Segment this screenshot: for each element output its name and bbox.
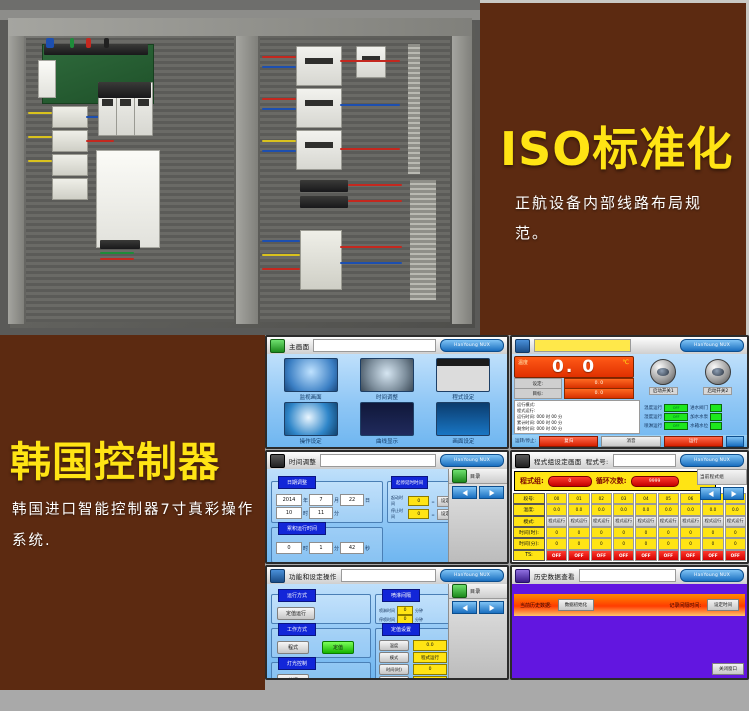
list-icon — [515, 454, 530, 468]
wire — [86, 140, 114, 142]
menu-label: 程式设定 — [452, 393, 474, 401]
top-row: ISO标准化 正航设备内部线路布局规范。 — [0, 0, 749, 335]
mode-value[interactable]: 程式运行 — [413, 652, 447, 663]
wire — [262, 56, 296, 58]
side-panel: 目录 — [448, 469, 507, 562]
hmi-screen-main-menu: 主画面 HanYoung NUX 监视画面 时间调整 — [265, 335, 509, 449]
temperature-label: 温度 — [518, 359, 528, 366]
delay-start-value[interactable]: 0 — [408, 496, 429, 506]
cell[interactable]: 0 — [613, 538, 634, 549]
electrical-control-cabinet-photo — [0, 0, 480, 335]
hour-field[interactable]: 10 — [276, 507, 302, 519]
cell[interactable]: 程式运行 — [546, 516, 567, 527]
wire — [340, 246, 402, 248]
module-connector — [100, 240, 140, 249]
brand-badge: HanYoung NUX — [440, 569, 504, 582]
gauges-icon — [284, 358, 338, 392]
cell[interactable]: OFF — [546, 550, 567, 561]
wire — [340, 148, 400, 150]
history-toolbar: 当前历史数据: 数据初始化 记录间隔时间: 设定时间 — [514, 594, 745, 616]
cell[interactable]: 0 — [546, 538, 567, 549]
light-group: 灯光控制 关闭 — [271, 662, 371, 680]
terminal-block — [52, 106, 88, 128]
spray-off-unit: 分钟 — [415, 617, 423, 623]
runtime-min-unit: 分 — [334, 545, 339, 552]
next-screen-button[interactable] — [726, 436, 744, 447]
work-mode-header: 工作方式 — [278, 623, 316, 636]
start-switch-group: 启动开关1 启动开关2 — [636, 356, 745, 398]
monitor-mid: 运行模式: 程式运行: 运行时间: 000 时 00 分 累计时间: 000 时… — [512, 400, 747, 435]
program-banner: 程式组: 0 循环次数: 9999 — [514, 471, 716, 491]
next-arrow-icon[interactable] — [479, 601, 504, 614]
delay-group: 起停延时时间 起动时间 0 = 设定 停止时间 0 = 设定 — [387, 481, 455, 523]
next-arrow-icon[interactable] — [723, 487, 744, 500]
cell: 05 — [658, 493, 679, 504]
cell[interactable]: OFF — [613, 550, 634, 561]
status-lamp-2 — [710, 413, 722, 421]
side-panel-header: 目录 — [449, 584, 507, 599]
start-switch-2[interactable]: 启动开关2 — [703, 359, 732, 395]
hmi-screen-monitor: HanYoung NUX 温度 ℃ 0. 0 — [510, 335, 749, 449]
cabinet-post-right — [452, 24, 472, 324]
mute-button[interactable]: 消音 — [601, 436, 660, 447]
program-number-field[interactable] — [613, 454, 677, 467]
cell[interactable]: 程式运行 — [591, 516, 612, 527]
program-group-label: 程式组: — [520, 476, 544, 486]
title-field — [320, 454, 436, 467]
spray-on-value[interactable]: 0 — [397, 606, 413, 615]
temperature-group: 温度 ℃ 0. 0 设定: 0. 0 目标: 0 — [514, 356, 634, 398]
nav-arrows — [449, 484, 507, 501]
panel-korean-controller: 韩国控制器 韩国进口智能控制器7寸真彩操作系统. — [0, 335, 265, 690]
minute-button[interactable]: 时间(分) — [379, 676, 409, 680]
nav-arrows — [449, 599, 507, 616]
row-header: 段号: — [513, 493, 545, 504]
cell[interactable]: 0.0 — [591, 504, 612, 515]
iso-subtitle: 正航设备内部线路布局规范。 — [515, 188, 730, 248]
cell: 01 — [568, 493, 589, 504]
day-field[interactable]: 22 — [340, 494, 364, 506]
setpoint-row: 设定: 0. 0 — [514, 379, 634, 388]
cabinet-rail-top — [8, 18, 472, 36]
year-unit: 年 — [303, 497, 308, 504]
wire — [100, 252, 134, 254]
cell: 03 — [613, 493, 634, 504]
screen-subtitle: 程式号: — [586, 456, 609, 466]
status-row: 喷淋运行 OFF 水箱水位 — [644, 422, 743, 430]
brand-badge: HanYoung NUX — [680, 339, 744, 352]
minute-field[interactable]: 11 — [309, 507, 333, 519]
runtime-hour-field: 0 — [276, 542, 302, 554]
cell[interactable]: 程式运行 — [635, 516, 656, 527]
cell[interactable]: 程式运行 — [658, 516, 679, 527]
menu-label: 监视画面 — [300, 393, 322, 401]
screen-body: 日期调整 2014 年 7 月 22 日 10 时 11 — [267, 469, 507, 562]
status-label-2: 进水阀门 — [690, 405, 708, 411]
function-layout: 运行方式 定值运行 工作方式 程式 定值 灯光控制 关闭 — [267, 584, 507, 678]
wire — [104, 38, 109, 48]
cell[interactable]: 0 — [591, 527, 612, 538]
wire — [70, 38, 74, 48]
target-row: 目标: 0. 0 — [514, 389, 634, 398]
set-interval-button[interactable]: 设定时间 — [707, 599, 739, 611]
spray-on-label: 喷淋时间 — [379, 608, 395, 614]
history-left-label: 当前历史数据: — [520, 602, 552, 609]
run-button[interactable]: 运行 — [664, 436, 723, 447]
row-header: TS: — [513, 550, 545, 561]
hour-value[interactable]: 0 — [413, 664, 447, 675]
hmi-screenshot-grid: 主画面 HanYoung NUX 监视画面 时间调整 — [265, 335, 749, 690]
title-field-yellow[interactable] — [534, 339, 631, 352]
title-field — [341, 569, 436, 582]
reset-button[interactable]: 复归 — [539, 436, 598, 447]
temperature-display: 温度 ℃ 0. 0 — [514, 356, 634, 378]
din-rail-terminals — [410, 180, 436, 300]
run-mode-button[interactable]: 定值运行 — [277, 607, 315, 620]
terminal-block — [52, 130, 88, 152]
date-group: 日期调整 2014 年 7 月 22 日 10 时 11 — [271, 481, 383, 523]
month-unit: 月 — [334, 497, 339, 504]
menu-item-operation[interactable]: 操作设定 — [273, 402, 348, 445]
temperature-value: 0. 0 — [552, 357, 596, 377]
hmi-screen-time-adjust: 时间调整 HanYoung NUX 日期调整 2014 年 7 月 22 — [265, 450, 509, 564]
cell[interactable]: 0 — [568, 527, 589, 538]
light-header: 灯光控制 — [278, 657, 316, 670]
work-mode-program-button[interactable]: 程式 — [277, 641, 309, 654]
screen-title: 程式组设定画面 — [534, 456, 582, 466]
brand-badge: HanYoung NUX — [680, 569, 744, 582]
screen-body: 监视画面 时间调整 程式设定 操作设定 — [267, 354, 507, 447]
panel-iso-standard: ISO标准化 正航设备内部线路布局规范。 — [480, 0, 749, 335]
menu-icon — [270, 339, 285, 353]
screen-body: 运行方式 定值运行 工作方式 程式 定值 灯光控制 关闭 — [267, 584, 507, 678]
circuit-breaker — [296, 88, 342, 128]
cell[interactable]: OFF — [658, 550, 679, 561]
status-row: 温度运行 OFF 进水阀门 — [644, 404, 743, 412]
side-panel-header: 目录 — [449, 469, 507, 484]
clock-icon — [270, 454, 285, 468]
titlebar: 功能和设定操作 HanYoung NUX — [267, 567, 507, 585]
delay-stop-label: 停止时间 — [391, 508, 406, 520]
cell[interactable]: 0.0 — [568, 504, 589, 515]
titlebar: 程式组设定画面 程式号: HanYoung NUX — [512, 452, 747, 470]
circuit-breaker — [296, 46, 342, 86]
status-row: 湿度运行 OFF 加水水泵 — [644, 413, 743, 421]
cycle-count-value[interactable]: 9999 — [631, 476, 679, 487]
wire — [46, 38, 54, 48]
controller-headline: 韩国控制器 — [10, 428, 220, 488]
wire — [262, 254, 300, 256]
cell[interactable]: 0.0 — [658, 504, 679, 515]
side-panel-label: 当前程式组 — [700, 474, 724, 480]
hour-unit: 时 — [303, 510, 308, 517]
status-label-2: 加水水泵 — [690, 414, 708, 420]
titlebar: 时间调整 HanYoung NUX — [267, 452, 507, 470]
status-lamp-2 — [710, 404, 722, 412]
terminal-block — [52, 154, 88, 176]
runtime-group: 累积运行时间 0 时 1 分 42 秒 — [271, 527, 383, 563]
compass-clock-icon — [360, 358, 414, 392]
run-info-box: 运行模式: 程式运行: 运行时间: 000 时 00 分 累计时间: 000 时… — [514, 400, 640, 434]
monitor-layout: 温度 ℃ 0. 0 设定: 0. 0 目标: 0 — [512, 354, 747, 447]
side-panel-label: 目录 — [470, 473, 481, 480]
delay-eq: = — [431, 499, 434, 504]
cell[interactable]: 0 — [568, 538, 589, 549]
wire — [340, 262, 402, 264]
title-field — [313, 339, 436, 352]
next-arrow-icon[interactable] — [479, 486, 504, 499]
hmi-screen-program-setting: 程式组设定画面 程式号: HanYoung NUX 程式组: 0 循环次数: 9… — [510, 450, 749, 564]
controller-module — [96, 150, 160, 248]
cell[interactable]: 0.0 — [635, 504, 656, 515]
temp-value[interactable]: 0.0 — [413, 640, 447, 651]
minute-value[interactable]: 0 — [413, 676, 447, 680]
menu-label: 曲线显示 — [376, 437, 398, 445]
row-header: 模式: — [513, 516, 545, 527]
screen-title: 功能和设定操作 — [289, 571, 337, 581]
temperature-unit: ℃ — [622, 359, 629, 366]
relay-module — [38, 60, 56, 98]
cell: 04 — [635, 493, 656, 504]
status-lamp: OFF — [664, 404, 688, 412]
fixed-setting-header: 定值设置 — [382, 623, 420, 636]
info-line: 剩余时间: 000 时 00 分 — [517, 426, 637, 432]
screen-body: 当前历史数据: 数据初始化 记录间隔时间: 设定时间 关闭窗口 — [512, 584, 747, 678]
menu-item-trend[interactable]: 曲线显示 — [349, 402, 424, 445]
runtime-hour-unit: 时 — [303, 545, 308, 552]
cell[interactable]: 0 — [658, 538, 679, 549]
wire — [262, 240, 300, 242]
wire — [28, 136, 52, 138]
spray-off-label: 停喷时间 — [379, 617, 395, 623]
circuit-breaker — [356, 46, 386, 78]
fixed-setting-group: 定值设置 温度 0.0 模式 程式运行 时间(时) 0 — [375, 628, 455, 680]
wire — [262, 150, 296, 152]
cell[interactable]: OFF — [568, 550, 589, 561]
runtime-sec-field: 42 — [340, 542, 364, 554]
titlebar: HanYoung NUX — [512, 337, 747, 355]
menu-item-program[interactable]: 程式设定 — [426, 358, 501, 401]
start-switch-1[interactable]: 启动开关1 — [649, 359, 678, 395]
knob-caption: 启动开关2 — [703, 387, 732, 395]
prev-arrow-icon[interactable] — [700, 487, 721, 500]
screen-title: 主画面 — [289, 341, 309, 351]
fuse-holder — [300, 180, 348, 192]
screen-body: 温度 ℃ 0. 0 设定: 0. 0 目标: 0 — [512, 354, 747, 447]
year-field[interactable]: 2014 — [276, 494, 302, 506]
list-gear-icon — [436, 358, 490, 392]
runtime-sec-unit: 秒 — [365, 545, 370, 552]
fuse-holder — [300, 196, 348, 208]
knob-caption: 启动开关1 — [649, 387, 678, 395]
status-lamp: OFF — [664, 422, 688, 430]
hmi-screen-function-setting: 功能和设定操作 HanYoung NUX 运行方式 定值运行 工作方式 — [265, 565, 509, 680]
spray-group: 喷淋间隔 喷淋时间 0 分钟 停喷时间 0 分钟 — [375, 594, 455, 624]
wire — [262, 66, 296, 68]
cell[interactable]: 0 — [658, 527, 679, 538]
terminal-block — [52, 178, 88, 200]
knob-icon[interactable] — [650, 359, 676, 385]
titlebar: 主画面 HanYoung NUX — [267, 337, 507, 355]
wire — [28, 112, 52, 114]
status-label: 喷淋运行 — [644, 423, 662, 429]
delay-start-label: 起动时间 — [391, 495, 406, 507]
target-label: 目标: — [514, 388, 562, 399]
menu-label: 时间调整 — [376, 393, 398, 401]
contactor — [300, 230, 342, 290]
screen-settings-icon — [436, 402, 490, 436]
page-bottom-strip — [0, 690, 749, 711]
runtime-group-header: 累积运行时间 — [278, 522, 326, 535]
cell[interactable]: 程式运行 — [568, 516, 589, 527]
wire — [348, 184, 402, 186]
wire — [28, 160, 52, 162]
row-header: 时间(时): — [513, 527, 545, 538]
side-panel: 目录 — [448, 584, 507, 678]
wire — [340, 60, 400, 62]
controller-subtitle: 韩国进口智能控制器7寸真彩操作系统. — [12, 495, 257, 557]
terminal-header — [44, 44, 148, 55]
knob-icon[interactable] — [705, 359, 731, 385]
mode-button[interactable]: 模式 — [379, 652, 409, 663]
work-mode-fixed-button[interactable]: 定值 — [322, 641, 354, 654]
cell[interactable]: 0.0 — [546, 504, 567, 515]
actionbar-label: 运转/停止: — [515, 438, 536, 444]
wire — [348, 200, 402, 202]
spray-header: 喷淋间隔 — [382, 589, 420, 602]
cell: 02 — [591, 493, 612, 504]
history-icon — [515, 569, 530, 583]
status-lamp: OFF — [664, 413, 688, 421]
status-indicator-box: 温度运行 OFF 进水阀门 湿度运行 OFF 加水水泵 — [642, 400, 745, 434]
wire — [86, 38, 91, 48]
wire — [262, 268, 300, 270]
joystick-icon — [284, 402, 338, 436]
hmi-screen-history-data: 历史数据查看 HanYoung NUX 当前历史数据: 数据初始化 记录间隔时间… — [510, 565, 749, 680]
side-panel-label: 目录 — [470, 588, 481, 595]
menu-item-display[interactable]: 画面设定 — [426, 402, 501, 445]
product-detail-page: ISO标准化 正航设备内部线路布局规范。 韩国控制器 韩国进口智能控制器7寸真彩… — [0, 0, 749, 711]
cell[interactable]: 0 — [613, 527, 634, 538]
day-unit: 日 — [365, 497, 370, 504]
delay-group-header: 起停延时时间 — [391, 476, 428, 489]
delay-eq: = — [431, 512, 434, 517]
cell[interactable]: OFF — [635, 550, 656, 561]
row-header: 时间(分): — [513, 538, 545, 549]
wire — [262, 108, 296, 110]
circuit-breaker — [296, 130, 342, 170]
settings-icon — [270, 569, 285, 583]
cell: 00 — [546, 493, 567, 504]
status-label: 湿度运行 — [644, 414, 662, 420]
cabinet-post-mid — [236, 24, 258, 324]
cell[interactable]: 0 — [635, 527, 656, 538]
brand-badge: HanYoung NUX — [440, 454, 504, 467]
menu-icon[interactable] — [452, 584, 467, 598]
close-window-button[interactable]: 关闭窗口 — [712, 663, 744, 675]
nav-arrows — [697, 485, 747, 502]
cell[interactable]: 0 — [591, 538, 612, 549]
titlebar: 历史数据查看 HanYoung NUX — [512, 567, 747, 585]
monitor-top: 温度 ℃ 0. 0 设定: 0. 0 目标: 0 — [512, 354, 747, 400]
history-right-label: 记录间隔时间: — [669, 602, 701, 609]
status-lamp-2 — [710, 422, 722, 430]
target-value: 0. 0 — [564, 388, 634, 399]
run-mode-header: 运行方式 — [278, 589, 316, 602]
cell[interactable]: 0.0 — [613, 504, 634, 515]
din-rail — [408, 44, 420, 174]
wire — [340, 104, 400, 106]
brand-badge: HanYoung NUX — [680, 454, 744, 467]
screen-title: 时间调整 — [289, 456, 316, 466]
trend-chart-icon — [360, 402, 414, 436]
prev-arrow-icon[interactable] — [452, 486, 477, 499]
date-group-header: 日期调整 — [278, 476, 316, 489]
bottom-row: 韩国控制器 韩国进口智能控制器7寸真彩操作系统. 主画面 HanYoung NU… — [0, 335, 749, 690]
monitor-icon — [515, 339, 530, 353]
spray-on-unit: 分钟 — [415, 608, 423, 614]
iso-headline: ISO标准化 — [500, 113, 733, 179]
cell[interactable]: 0 — [546, 527, 567, 538]
menu-icon[interactable] — [452, 469, 467, 483]
minute-unit: 分 — [334, 510, 339, 517]
program-group-value[interactable]: 0 — [548, 476, 592, 487]
data-init-button[interactable]: 数据初始化 — [558, 599, 595, 611]
menu-grid: 监视画面 时间调整 程式设定 操作设定 — [267, 354, 507, 447]
prev-arrow-icon[interactable] — [452, 601, 477, 614]
brand-badge: HanYoung NUX — [440, 339, 504, 352]
breaker-handle — [98, 82, 151, 98]
runtime-min-field: 1 — [309, 542, 333, 554]
run-mode-group: 运行方式 定值运行 — [271, 594, 371, 624]
cabinet-post-left — [8, 24, 24, 324]
wire — [262, 98, 296, 100]
hour-button[interactable]: 时间(时) — [379, 664, 409, 675]
light-button[interactable]: 关闭 — [277, 674, 309, 680]
menu-item-time[interactable]: 时间调整 — [349, 358, 424, 401]
menu-label: 操作设定 — [300, 437, 322, 445]
status-label-2: 水箱水位 — [690, 423, 708, 429]
month-field[interactable]: 7 — [309, 494, 333, 506]
cell[interactable]: OFF — [591, 550, 612, 561]
delay-stop-value[interactable]: 0 — [408, 509, 429, 519]
menu-label: 画面设定 — [452, 437, 474, 445]
program-side-panel: 当前程式组 — [697, 469, 747, 562]
cell[interactable]: 0 — [635, 538, 656, 549]
cell[interactable]: 程式运行 — [613, 516, 634, 527]
screen-title: 历史数据查看 — [534, 571, 575, 581]
temp-button[interactable]: 温度 — [379, 640, 409, 651]
monitor-actionbar: 运转/停止: 复归 消音 运行 — [512, 435, 747, 447]
status-label: 温度运行 — [644, 405, 662, 411]
title-field — [579, 569, 676, 582]
work-mode-group: 工作方式 程式 定值 — [271, 628, 371, 658]
wire — [262, 140, 296, 142]
cycle-count-label: 循环次数: — [596, 476, 627, 486]
wire — [100, 258, 134, 260]
menu-item-monitor[interactable]: 监视画面 — [273, 358, 348, 401]
row-header: 温度: — [513, 504, 545, 515]
